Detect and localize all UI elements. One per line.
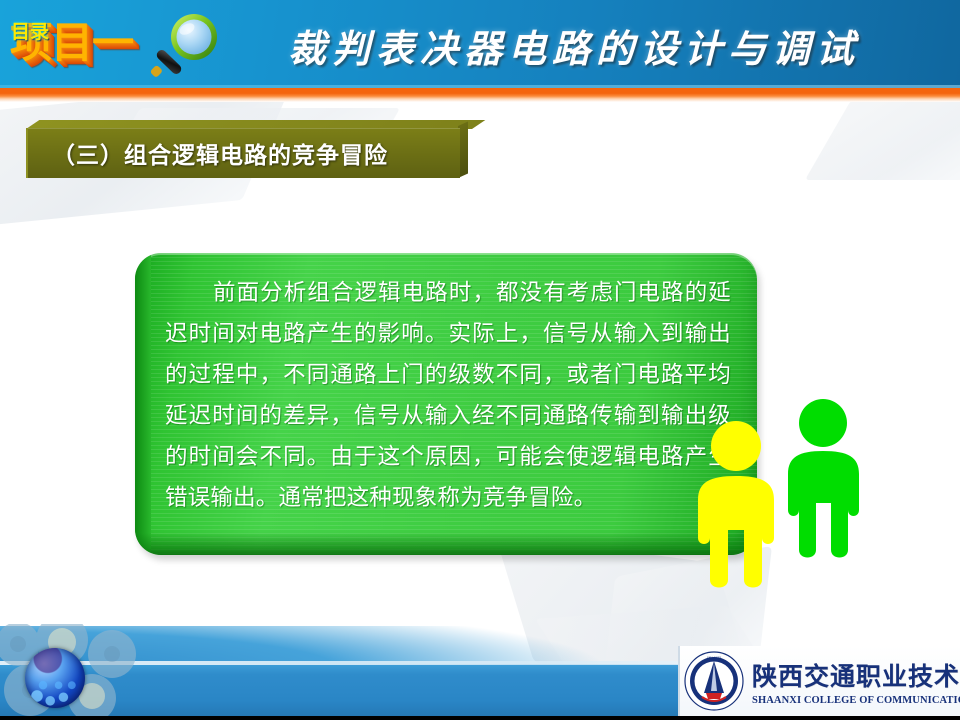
table-of-contents-button[interactable] [25,648,85,708]
content-card: 前面分析组合逻辑电路时，都没有考虑门电路的延迟时间对电路产生的影响。实际上，信号… [135,253,757,555]
school-logo: SHAANXI 陕西交通职业技术学院 SHAANXI COLLEGE OF CO… [678,646,960,716]
person-pictogram-green [778,398,868,562]
section-heading: （三）组合逻辑电路的竞争冒险 [26,128,458,178]
background-watermark-shape [805,100,960,180]
header-divider-rule [0,88,960,102]
school-name-cn: 陕西交通职业技术学院 [752,657,960,693]
school-emblem-icon: SHAANXI [684,651,744,711]
page-title: 裁判表决器电路的设计与调试 [196,8,952,82]
school-name-en: SHAANXI COLLEGE OF COMMUNICATION TECHNOL… [752,695,960,706]
table-of-contents-label[interactable]: 目录 [0,0,60,60]
school-logo-text: 陕西交通职业技术学院 SHAANXI COLLEGE OF COMMUNICAT… [752,657,960,706]
slide-canvas: 项目一 [0,0,960,720]
svg-text:SHAANXI: SHAANXI [707,656,721,660]
person-pictogram-yellow [688,420,784,592]
footer-bottom-edge [0,716,960,720]
body-paragraph: 前面分析组合逻辑电路时，都没有考虑门电路的延迟时间对电路产生的影响。实际上，信号… [165,273,731,519]
